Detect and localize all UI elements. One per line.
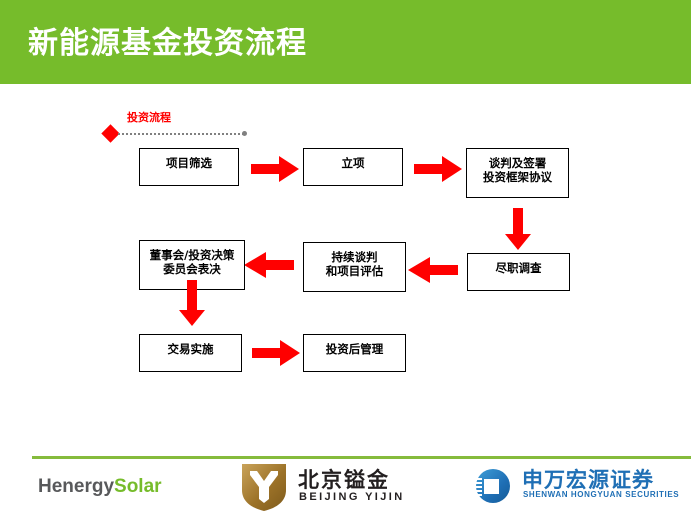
callout-diamond-icon	[101, 124, 119, 142]
logo-beijing-yijin: 北京镒金 BEIJING YIJIN	[240, 462, 420, 514]
flow-node-postmgmt-line-1: 投资后管理	[304, 342, 405, 356]
flow-diagram: 投资流程 项目筛选 立项 谈判及签署 投资框架协议	[0, 84, 691, 440]
logo-shenwan-en: SHENWAN HONGYUAN SECURITIES	[523, 490, 679, 499]
flow-node-boardvote-line-1: 董事会/投资决策	[140, 248, 244, 262]
logo-henergy-part2: Solar	[114, 476, 162, 497]
flow-node-duediligence[interactable]: 尽职调查	[467, 253, 570, 291]
arrow-duediligence-to-evaluation	[408, 257, 458, 283]
flow-node-screening[interactable]: 项目筛选	[139, 148, 239, 186]
callout-label: 投资流程	[127, 109, 171, 125]
arrow-evaluation-to-boardvote	[244, 252, 294, 278]
page-title: 新能源基金投资流程	[28, 25, 307, 63]
flow-node-screening-line-1: 项目筛选	[140, 156, 238, 170]
arrow-initiation-to-negotiation	[414, 156, 462, 182]
arrow-negotiation-to-duediligence	[505, 208, 531, 250]
flow-node-boardvote-line-2: 委员会表决	[140, 262, 244, 276]
flow-node-evaluation-line-1: 持续谈判	[304, 250, 405, 264]
flow-node-evaluation-line-2: 和项目评估	[304, 264, 405, 278]
logo-henergy-part1: Henergy	[38, 476, 114, 497]
logo-yijin-en: BEIJING YIJIN	[299, 491, 405, 503]
logo-shenwan-hongyuan: 申万宏源证券 SHENWAN HONGYUAN SECURITIES	[470, 464, 685, 512]
flow-node-initiation-line-1: 立项	[304, 156, 402, 170]
flow-node-evaluation[interactable]: 持续谈判 和项目评估	[303, 242, 406, 292]
shield-icon	[240, 462, 288, 517]
shenwan-mark-icon	[470, 466, 516, 511]
flow-node-negotiation-line-2: 投资框架协议	[467, 170, 568, 184]
flow-node-postmgmt[interactable]: 投资后管理	[303, 334, 406, 372]
flow-node-execution-line-1: 交易实施	[140, 342, 241, 356]
arrow-boardvote-to-execution	[179, 280, 205, 326]
flow-node-negotiation-line-1: 谈判及签署	[467, 156, 568, 170]
flow-node-execution[interactable]: 交易实施	[139, 334, 242, 372]
callout-endpoint-dot-icon	[242, 131, 247, 136]
logo-henergy-solar: HenergySolar	[38, 476, 162, 498]
arrow-screening-to-initiation	[251, 156, 299, 182]
flow-node-negotiation[interactable]: 谈判及签署 投资框架协议	[466, 148, 569, 198]
footer: HenergySolar 北京镒金 BEIJING	[0, 440, 691, 516]
flow-node-initiation[interactable]: 立项	[303, 148, 403, 186]
arrow-execution-to-postmgmt	[252, 340, 300, 366]
flow-node-duediligence-line-1: 尽职调查	[468, 261, 569, 275]
logo-yijin-cn: 北京镒金	[298, 464, 390, 494]
slide: 新能源基金投资流程 投资流程 项目筛选 立项 谈判及签署 投资框架协议	[0, 0, 691, 516]
footer-divider	[32, 456, 691, 459]
callout-dotted-line	[118, 133, 244, 135]
